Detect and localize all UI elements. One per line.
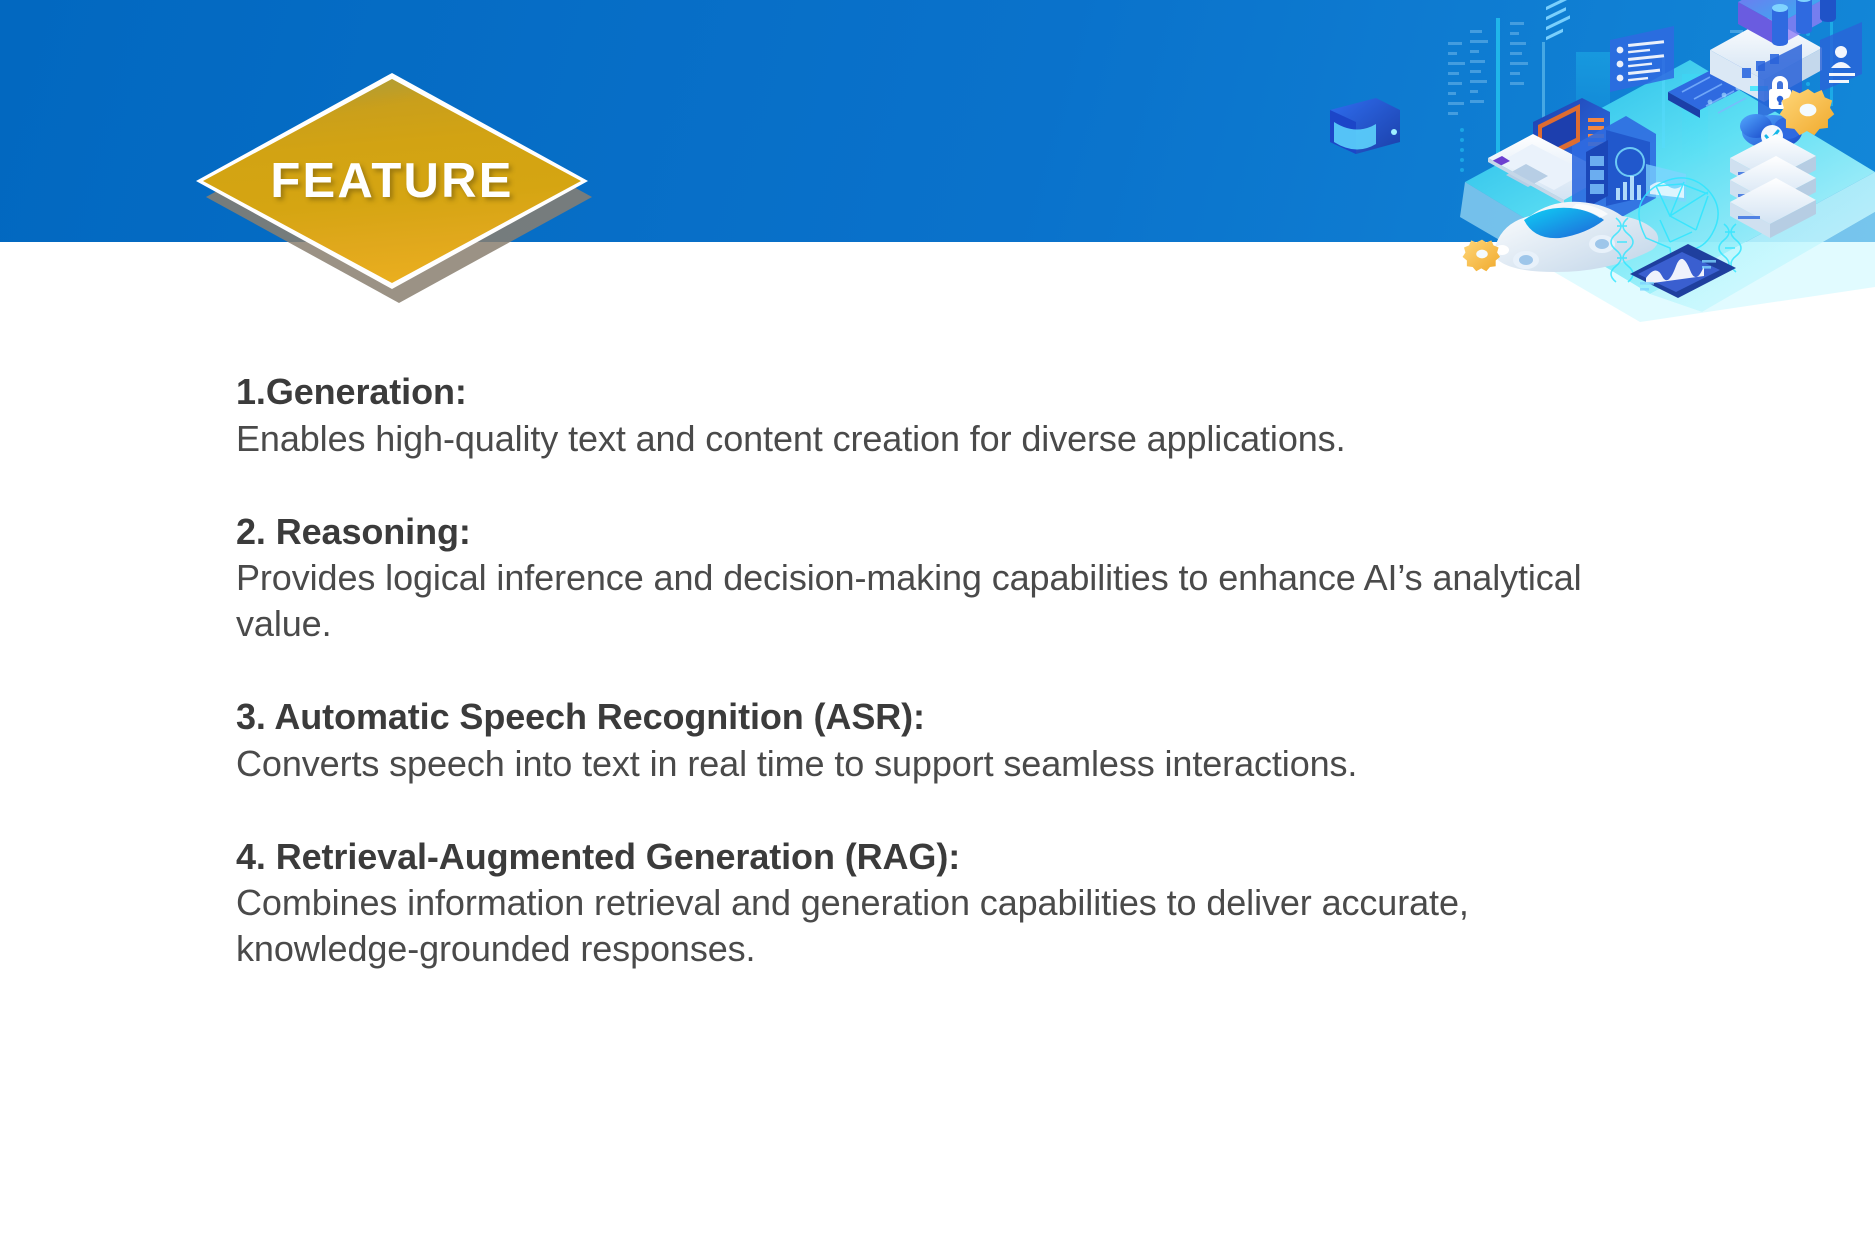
feature-item-generation: 1.Generation: Enables high-quality text …: [236, 368, 1656, 462]
feature-item-rag: 4. Retrieval-Augmented Generation (RAG):…: [236, 833, 1656, 973]
feature-badge: FEATURE: [196, 73, 596, 308]
feature-title: 2. Reasoning:: [236, 508, 1656, 556]
monitor-chart: [1630, 244, 1736, 298]
feature-title: 4. Retrieval-Augmented Generation (RAG):: [236, 833, 1656, 881]
badge-label: FEATURE: [196, 73, 588, 289]
feature-description: Enables high-quality text and content cr…: [236, 416, 1626, 462]
feature-description: Combines information retrieval and gener…: [236, 880, 1626, 972]
feature-description: Provides logical inference and decision-…: [236, 555, 1626, 647]
feature-item-reasoning: 2. Reasoning: Provides logical inference…: [236, 508, 1656, 648]
feature-title: 3. Automatic Speech Recognition (ASR):: [236, 693, 1656, 741]
feature-item-asr: 3. Automatic Speech Recognition (ASR): C…: [236, 693, 1656, 787]
feature-description: Converts speech into text in real time t…: [236, 741, 1626, 787]
feature-list: 1.Generation: Enables high-quality text …: [236, 368, 1656, 973]
feature-title: 1.Generation:: [236, 368, 1656, 416]
